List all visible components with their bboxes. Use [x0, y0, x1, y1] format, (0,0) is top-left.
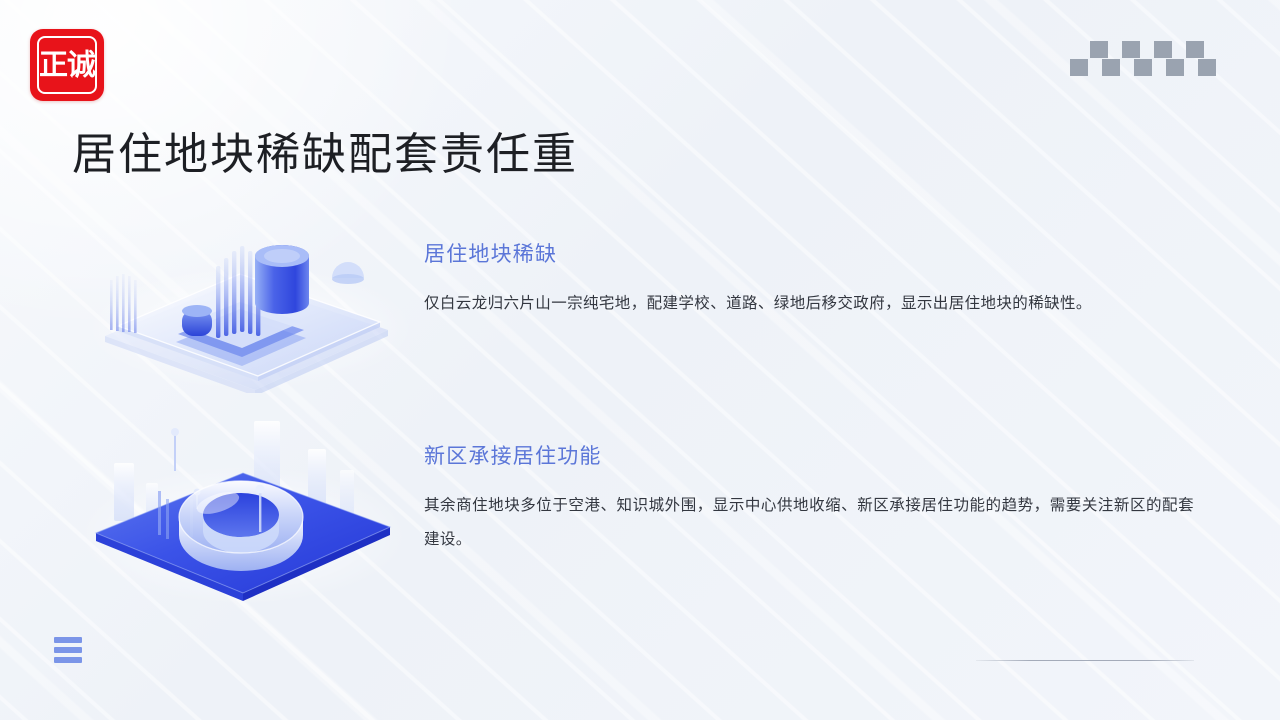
logo-text: 正诚 [30, 51, 104, 80]
slide-canvas: 正诚 居住地块稀缺配套责任重 [0, 0, 1280, 720]
footer-rule [976, 660, 1194, 661]
checker-square [1122, 41, 1140, 58]
menu-bar [54, 647, 82, 653]
illustration-platform-torus [78, 415, 408, 615]
checker-square [1166, 59, 1184, 76]
section-body-1: 仅白云龙归六片山一宗纯宅地，配建学校、道路、绿地后移交政府，显示出居住地块的稀缺… [424, 287, 1194, 321]
content-block-1: 居住地块稀缺 仅白云龙归六片山一宗纯宅地，配建学校、道路、绿地后移交政府，显示出… [424, 238, 1194, 321]
hamburger-menu-icon[interactable] [54, 637, 82, 664]
menu-bar [54, 637, 82, 643]
checker-square [1070, 59, 1088, 76]
section-heading-2: 新区承接居住功能 [424, 440, 1194, 470]
checker-pattern-decoration [1070, 41, 1202, 77]
checker-square [1090, 41, 1108, 58]
content-block-2: 新区承接居住功能 其余商住地块多位于空港、知识城外围，显示中心供地收缩、新区承接… [424, 440, 1194, 557]
menu-bar [54, 657, 82, 663]
checker-square [1102, 59, 1120, 76]
page-title: 居住地块稀缺配套责任重 [72, 118, 578, 182]
illustration-platform-cylinder [70, 218, 410, 393]
checker-square [1186, 41, 1204, 58]
section-heading-1: 居住地块稀缺 [424, 238, 1194, 268]
checker-square [1154, 41, 1172, 58]
zhengcheng-logo: 正诚 [30, 29, 104, 101]
checker-square [1134, 59, 1152, 76]
section-body-2: 其余商住地块多位于空港、知识城外围，显示中心供地收缩、新区承接居住功能的趋势，需… [424, 489, 1194, 557]
checker-square [1198, 59, 1216, 76]
